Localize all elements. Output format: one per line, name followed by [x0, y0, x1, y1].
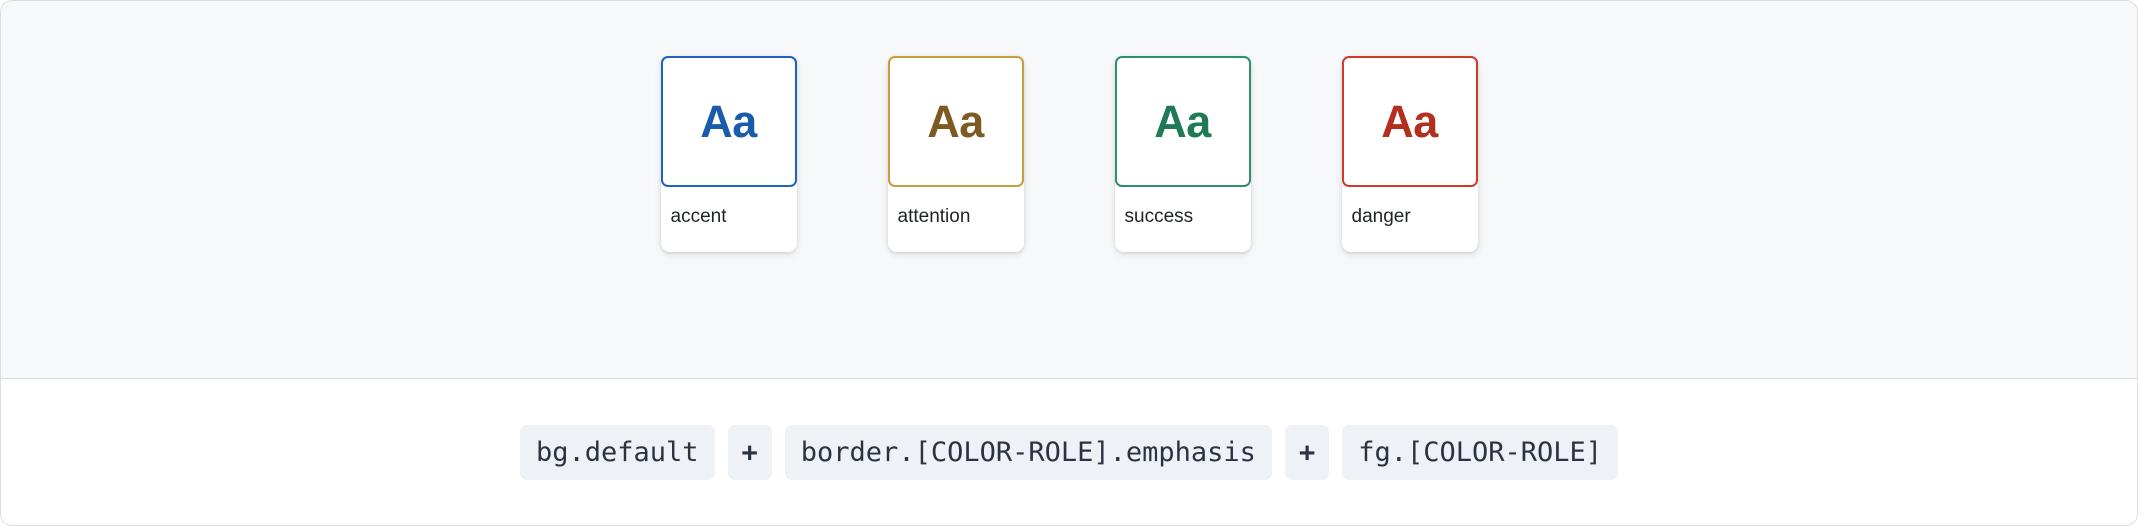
swatch-sample-text-attention: Aa — [927, 99, 984, 144]
swatch-label-success: success — [1115, 187, 1251, 252]
formula-token-fg-color-role: fg.[COLOR-ROLE] — [1342, 425, 1618, 480]
swatch-box-accent: Aa — [661, 56, 797, 187]
swatch-box-success: Aa — [1115, 56, 1251, 187]
swatch-card-accent[interactable]: Aa accent — [661, 56, 797, 252]
swatch-sample-text-danger: Aa — [1381, 99, 1438, 144]
swatch-row: Aa accent Aa attention Aa success Aa — [661, 56, 1478, 252]
swatch-card-attention[interactable]: Aa attention — [888, 56, 1024, 252]
swatch-sample-text-accent: Aa — [700, 99, 757, 144]
swatch-card-danger[interactable]: Aa danger — [1342, 56, 1478, 252]
formula-operator-plus-2: + — [1285, 425, 1329, 480]
swatch-card-success[interactable]: Aa success — [1115, 56, 1251, 252]
formula-panel: bg.default + border.[COLOR-ROLE].emphasi… — [1, 379, 2137, 526]
swatch-sample-text-success: Aa — [1154, 99, 1211, 144]
color-role-figure: Aa accent Aa attention Aa success Aa — [0, 0, 2138, 526]
formula-token-bg-default: bg.default — [520, 425, 715, 480]
swatch-box-danger: Aa — [1342, 56, 1478, 187]
swatch-label-danger: danger — [1342, 187, 1478, 252]
swatch-label-attention: attention — [888, 187, 1024, 252]
swatch-label-accent: accent — [661, 187, 797, 252]
formula-token-border-emphasis: border.[COLOR-ROLE].emphasis — [785, 425, 1272, 480]
formula-operator-plus-1: + — [728, 425, 772, 480]
swatch-panel: Aa accent Aa attention Aa success Aa — [1, 1, 2137, 379]
swatch-box-attention: Aa — [888, 56, 1024, 187]
